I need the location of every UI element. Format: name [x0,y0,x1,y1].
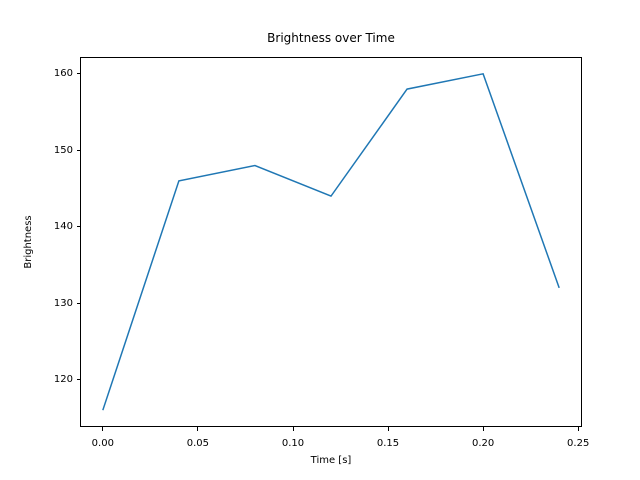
line-plot [80,57,582,427]
data-series-line [103,74,559,410]
y-tick-label: 140 [0,221,73,232]
x-tick-label: 0.05 [168,431,228,443]
y-axis-label: Brightness [22,57,36,427]
x-tick-label: 0.15 [358,431,418,443]
x-tick-label: 0.25 [548,431,608,443]
y-tick-text: 120 [54,374,73,385]
y-tick-text: 160 [54,68,73,79]
x-tick-mark [293,427,294,431]
x-tick-text: 0.15 [377,438,399,449]
x-tick-label: 0.00 [73,431,133,443]
x-tick-text: 0.05 [187,438,209,449]
y-tick-label: 150 [0,145,73,156]
chart-title: Brightness over Time [80,31,582,45]
x-tick-mark [578,427,579,431]
x-tick-label: 0.20 [453,431,513,443]
x-tick-mark [197,427,198,431]
y-tick-label: 160 [0,68,73,79]
x-tick-text: 0.00 [92,438,114,449]
x-tick-text: 0.20 [472,438,494,449]
x-tick-text: 0.10 [282,438,304,449]
y-tick-label: 130 [0,298,73,309]
x-tick-mark [483,427,484,431]
y-tick-text: 130 [54,298,73,309]
y-tick-label: 120 [0,374,73,385]
matplotlib-figure: Brightness over Time 120130140150160 0.0… [0,0,640,480]
x-axis-label: Time [s] [80,455,582,467]
x-tick-text: 0.25 [567,438,589,449]
x-tick-mark [388,427,389,431]
y-tick-text: 140 [54,221,73,232]
y-tick-text: 150 [54,145,73,156]
x-tick-label: 0.10 [263,431,323,443]
x-tick-mark [102,427,103,431]
